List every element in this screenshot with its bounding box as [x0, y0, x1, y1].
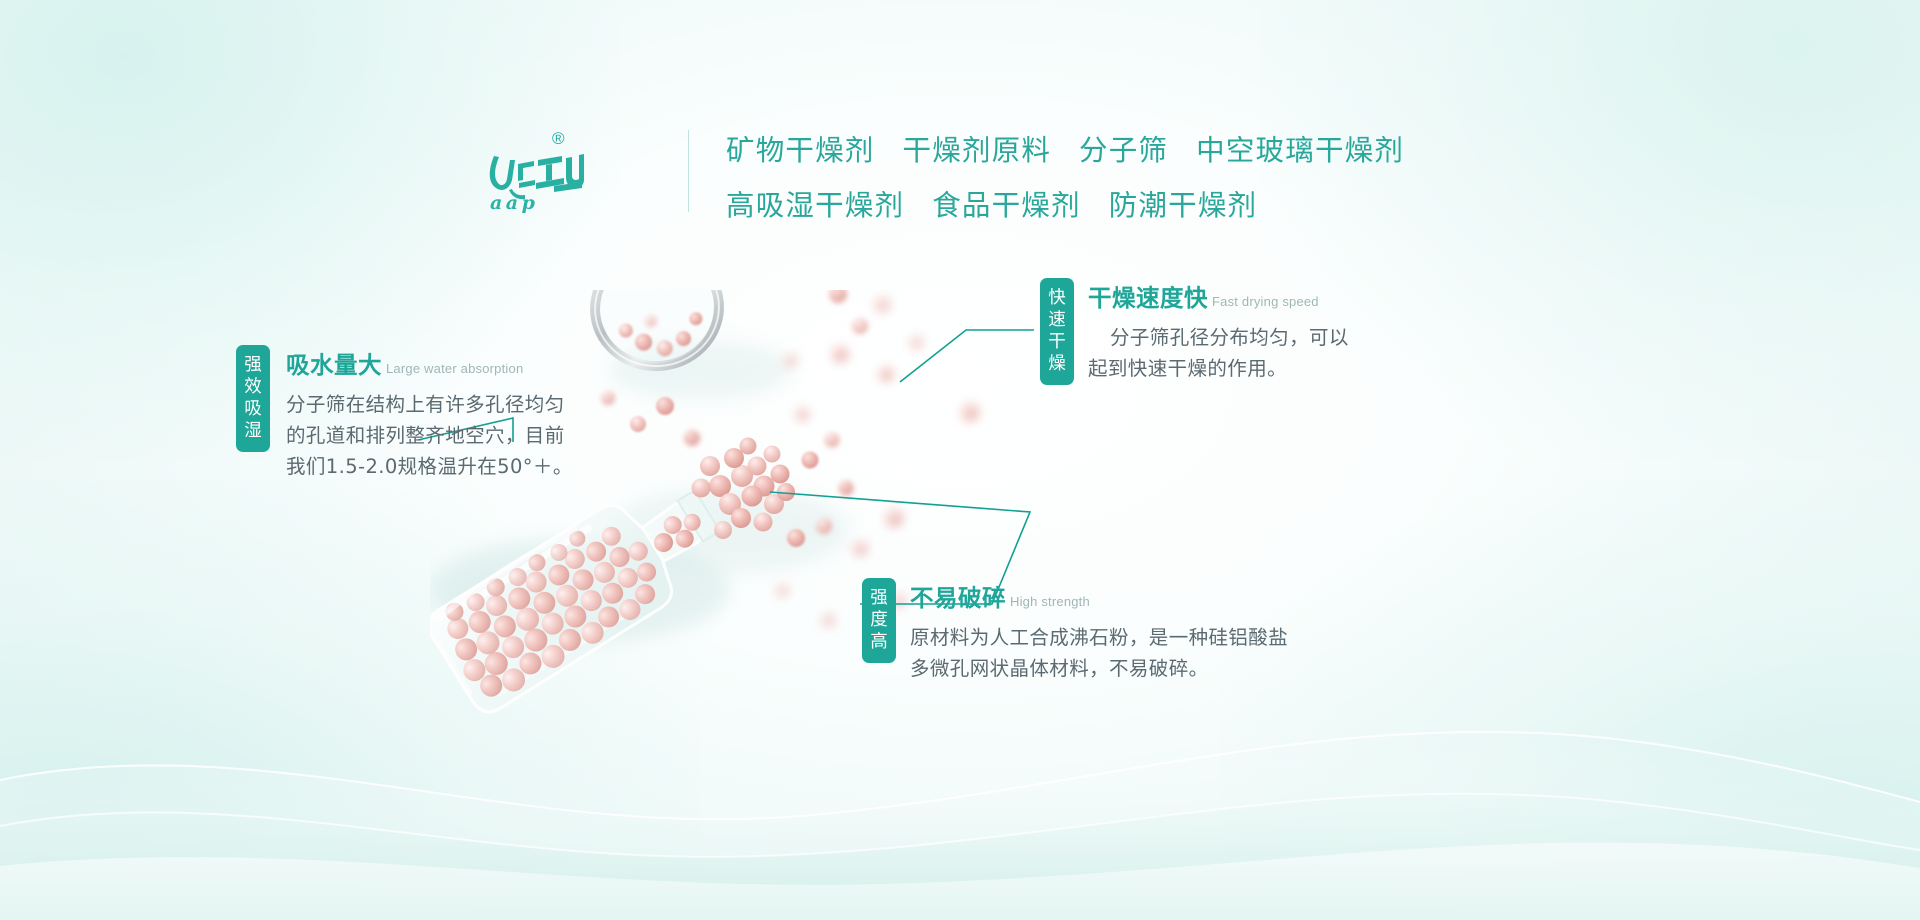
nav-item-desiccant-raw-material[interactable]: 干燥剂原料 [903, 128, 1052, 169]
keyword-nav: 矿物干燥剂 干燥剂原料 分子筛 中空玻璃干燥剂 高吸湿干燥剂 食品干燥剂 防潮干… [726, 128, 1404, 224]
callout-body-line: 原材料为人工合成沸石粉，是一种硅铝酸盐 [910, 622, 1288, 653]
callout-tag-strong-absorption: 强 效 吸 湿 [236, 345, 270, 452]
callout-tag-fast-drying: 快 速 干 燥 [1040, 278, 1074, 385]
tag-char: 燥 [1040, 353, 1074, 375]
callout-heading: 不易破碎 High strength [910, 579, 1288, 613]
callout-body: 原材料为人工合成沸石粉，是一种硅铝酸盐 多微孔网状晶体材料，不易破碎。 [910, 622, 1288, 684]
tag-char: 效 [236, 376, 270, 398]
nav-item-moisture-proof-desiccant[interactable]: 防潮干燥剂 [1109, 183, 1258, 224]
callout-tag-high-strength: 强 度 高 [862, 578, 896, 663]
nav-item-mineral-desiccant[interactable]: 矿物干燥剂 [726, 128, 875, 169]
callout-title-cn: 吸水量大 [286, 346, 382, 380]
header-divider [688, 130, 689, 212]
tag-char: 干 [1040, 331, 1074, 353]
nav-item-insulating-glass-desiccant[interactable]: 中空玻璃干燥剂 [1196, 128, 1404, 169]
tag-char: 湿 [236, 420, 270, 442]
logo-wordmark: aap [490, 192, 538, 214]
callout-body-line: 分子筛在结构上有许多孔径均匀 [286, 389, 573, 420]
callout-title-cn: 干燥速度快 [1088, 279, 1208, 313]
tag-char: 度 [862, 609, 896, 631]
callout-body-line: 的孔道和排列整齐地空穴，目前 [286, 420, 573, 451]
callout-title-en: Fast drying speed [1212, 294, 1319, 309]
tag-char: 速 [1040, 309, 1074, 331]
keyword-nav-row-1: 矿物干燥剂 干燥剂原料 分子筛 中空玻璃干燥剂 [726, 128, 1404, 169]
brand-logo[interactable]: ® aap [488, 126, 588, 212]
callout-body: 分子筛孔径分布均匀，可以 起到快速干燥的作用。 [1088, 322, 1349, 384]
callout-body-line: 起到快速干燥的作用。 [1088, 353, 1349, 384]
callout-body-line: 我们1.5-2.0规格温升在50°＋。 [286, 451, 573, 482]
callout-text-block: 吸水量大 Large water absorption 分子筛在结构上有许多孔径… [286, 345, 573, 482]
tag-char: 强 [236, 354, 270, 376]
callout-body-line: 分子筛孔径分布均匀，可以 [1088, 322, 1349, 353]
tag-char: 吸 [236, 398, 270, 420]
registered-trademark-icon: ® [552, 130, 565, 147]
banner-stage: ® aap 矿物干燥剂 干燥剂原料 分子筛 中空玻璃干燥剂 高吸湿干燥剂 食品干… [0, 0, 1920, 920]
callout-title-cn: 不易破碎 [910, 579, 1006, 613]
tag-char: 强 [862, 587, 896, 609]
callout-title-en: High strength [1010, 594, 1090, 609]
callout-heading: 吸水量大 Large water absorption [286, 346, 573, 380]
callout-high-strength: 强 度 高 不易破碎 High strength 原材料为人工合成沸石粉，是一种… [862, 578, 1288, 684]
nav-item-high-absorption-desiccant[interactable]: 高吸湿干燥剂 [726, 183, 904, 224]
callout-fast-drying-speed: 快 速 干 燥 干燥速度快 Fast drying speed 分子筛孔径分布均… [1040, 278, 1349, 385]
callout-text-block: 干燥速度快 Fast drying speed 分子筛孔径分布均匀，可以 起到快… [1088, 278, 1349, 385]
callout-body-line: 多微孔网状晶体材料，不易破碎。 [910, 653, 1288, 684]
keyword-nav-row-2: 高吸湿干燥剂 食品干燥剂 防潮干燥剂 [726, 183, 1404, 224]
site-header: ® aap 矿物干燥剂 干燥剂原料 分子筛 中空玻璃干燥剂 高吸湿干燥剂 食品干… [0, 0, 1920, 250]
nav-item-food-desiccant[interactable]: 食品干燥剂 [932, 183, 1081, 224]
callout-heading: 干燥速度快 Fast drying speed [1088, 279, 1349, 313]
callout-body: 分子筛在结构上有许多孔径均匀 的孔道和排列整齐地空穴，目前 我们1.5-2.0规… [286, 389, 573, 482]
tag-char: 高 [862, 631, 896, 653]
callout-title-en: Large water absorption [386, 361, 523, 376]
callout-large-water-absorption: 强 效 吸 湿 吸水量大 Large water absorption 分子筛在… [236, 345, 573, 482]
nav-item-molecular-sieve[interactable]: 分子筛 [1079, 128, 1168, 169]
tag-char: 快 [1040, 287, 1074, 309]
callout-text-block: 不易破碎 High strength 原材料为人工合成沸石粉，是一种硅铝酸盐 多… [910, 578, 1288, 684]
